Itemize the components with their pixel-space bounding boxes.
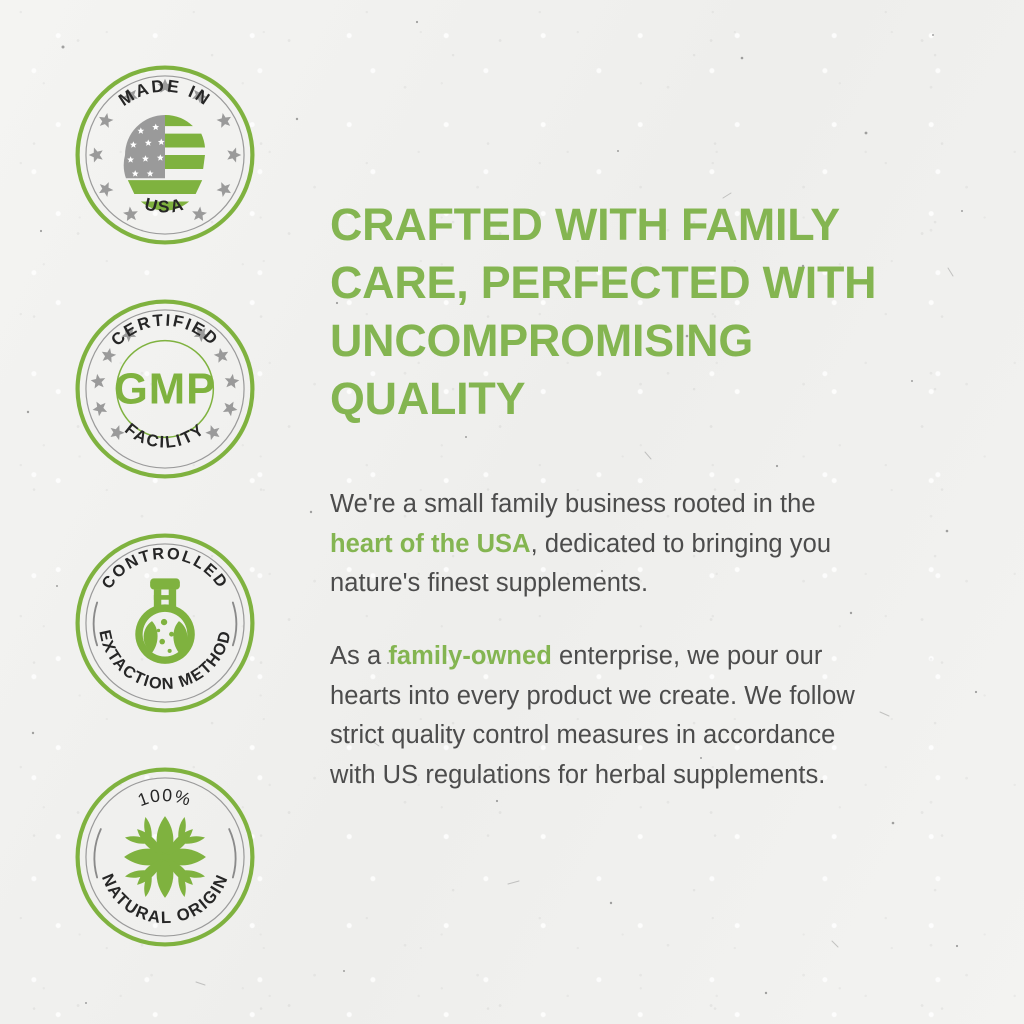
text-segment: We're a small family business rooted in … xyxy=(330,490,816,518)
leaf-rosette-icon xyxy=(124,816,206,898)
badge-bottom-label: USA xyxy=(143,194,188,217)
badge-top-label: 100% xyxy=(135,785,194,810)
highlight-heart-of-the-usa: heart of the USA xyxy=(330,530,531,558)
gmp-text-icon: GMP xyxy=(114,365,216,414)
text-segment: As a xyxy=(330,642,388,670)
page-headline: CRAFTED WITH FAMILY CARE, PERFECTED WITH… xyxy=(330,196,882,428)
headline-line-3: UNCOMPROMISING xyxy=(330,315,753,366)
certification-badge-column: MADE IN USA xyxy=(0,0,330,1024)
body-paragraph-1: We're a small family business rooted in … xyxy=(330,485,860,604)
body-paragraph-2: As a family-owned enterprise, we pour ou… xyxy=(330,637,870,796)
usa-flag-circle-icon xyxy=(124,115,205,211)
badge-gmp-certified-facility: GMP CERTIFIED FACILITY xyxy=(72,296,258,482)
headline-line-2: CARE, PERFECTED WITH xyxy=(330,257,876,308)
badge-made-in-usa: MADE IN USA xyxy=(72,62,258,248)
headline-line-4: QUALITY xyxy=(330,373,525,424)
highlight-family-owned: family-owned xyxy=(388,642,552,670)
headline-line-1: CRAFTED WITH FAMILY xyxy=(330,199,840,250)
content-column: CRAFTED WITH FAMILY CARE, PERFECTED WITH… xyxy=(330,0,1024,1024)
badge-bottom-label: FACILITY xyxy=(121,419,208,452)
badge-controlled-extraction-method: CONTROLLED EXTACTION METHOD xyxy=(72,530,258,716)
badge-top-label: MADE IN xyxy=(115,75,216,110)
flask-leaf-icon xyxy=(135,578,195,664)
badge-natural-origin: 100% NATURAL ORIGIN xyxy=(72,764,258,950)
badge-top-label: CERTIFIED xyxy=(107,311,222,350)
